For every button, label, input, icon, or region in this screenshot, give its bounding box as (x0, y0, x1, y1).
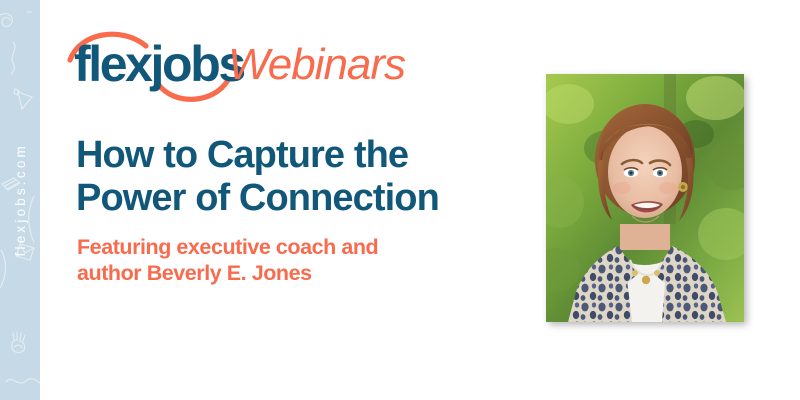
flexjobs-webinars-logo[interactable]: flexjobs Webinars (66, 24, 406, 102)
logo-svg: flexjobs Webinars (66, 24, 406, 102)
page-subtitle: Featuring executive coach and author Bev… (77, 234, 497, 286)
page-title: How to Capture the Power of Connection (76, 134, 516, 219)
page-title-line-2: Power of Connection (76, 177, 516, 220)
sidebar-url-label: flexjobs.com (0, 0, 40, 400)
page-subtitle-line-2: author Beverly E. Jones (77, 260, 497, 286)
logo-wordmark-text: flexjobs (74, 36, 244, 92)
brand-sidebar: flexjobs.com (0, 0, 40, 400)
speaker-portrait-image (546, 74, 744, 322)
webinar-title-slide: flexjobs.com flexjobs Webinars How to Ca… (0, 0, 800, 400)
logo-suffix-text: Webinars (228, 40, 406, 89)
sidebar-url-text: flexjobs.com (13, 143, 28, 256)
page-title-line-1: How to Capture the (76, 134, 516, 177)
speaker-portrait (546, 74, 744, 322)
page-subtitle-line-1: Featuring executive coach and (77, 234, 497, 260)
